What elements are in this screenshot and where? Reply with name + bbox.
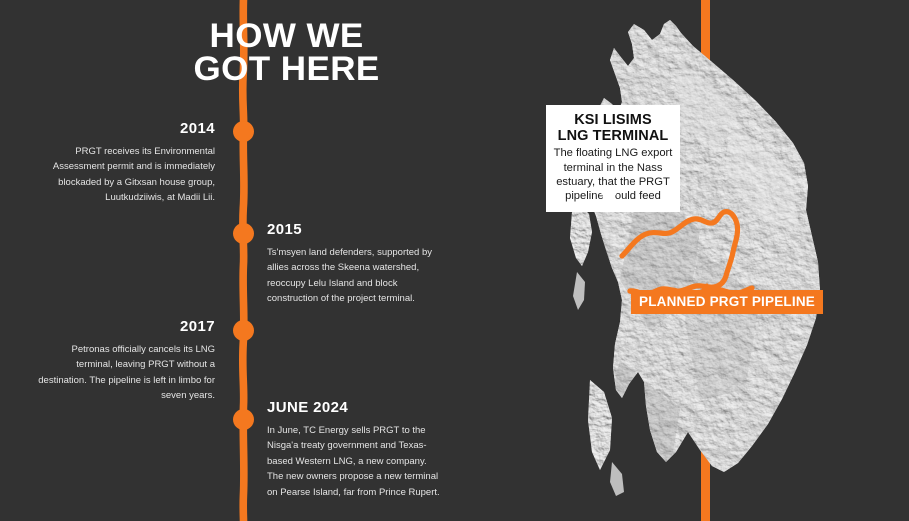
timeline-body-2014: PRGT receives its Environmental Assessme…: [35, 144, 215, 206]
callout-title-line-2: LNG TERMINAL: [558, 128, 669, 144]
timeline-year-june-2024: JUNE 2024: [267, 399, 445, 416]
timeline-dot-2024: [233, 409, 254, 430]
timeline-dot-2015: [233, 223, 254, 244]
timeline-entry-june-2024: JUNE 2024 In June, TC Energy sells PRGT …: [267, 399, 445, 500]
timeline-body-2017: Petronas officially cancels its LNG term…: [35, 342, 215, 404]
british-columbia-terrain-map: [0, 0, 909, 521]
pipeline-label: PLANNED PRGT PIPELINE: [631, 290, 823, 314]
callout-title-line-1: KSI LISIMS: [574, 112, 652, 128]
timeline-year-2015: 2015: [267, 221, 445, 238]
timeline-entry-2014: 2014 PRGT receives its Environmental Ass…: [35, 120, 215, 206]
callout-title: KSI LISIMS LNG TERMINAL: [552, 112, 674, 144]
timeline-entry-2017: 2017 Petronas officially cancels its LNG…: [35, 318, 215, 404]
timeline-dot-2014: [233, 121, 254, 142]
timeline-dot-2017: [233, 320, 254, 341]
timeline-entry-2015: 2015 Ts'msyen land defenders, supported …: [267, 221, 445, 307]
page-title: HOW WE GOT HERE: [163, 20, 410, 85]
timeline-year-2017: 2017: [35, 318, 215, 335]
headline-line-2: GOT HERE: [163, 53, 410, 86]
timeline-body-june-2024: In June, TC Energy sells PRGT to the Nis…: [267, 423, 445, 500]
timeline-year-2014: 2014: [35, 120, 215, 137]
infographic-canvas: HOW WE GOT HERE 2014 PRGT receives its E…: [0, 0, 909, 521]
timeline-body-2015: Ts'msyen land defenders, supported by al…: [267, 245, 445, 307]
callout-pointer-icon: [601, 193, 617, 206]
